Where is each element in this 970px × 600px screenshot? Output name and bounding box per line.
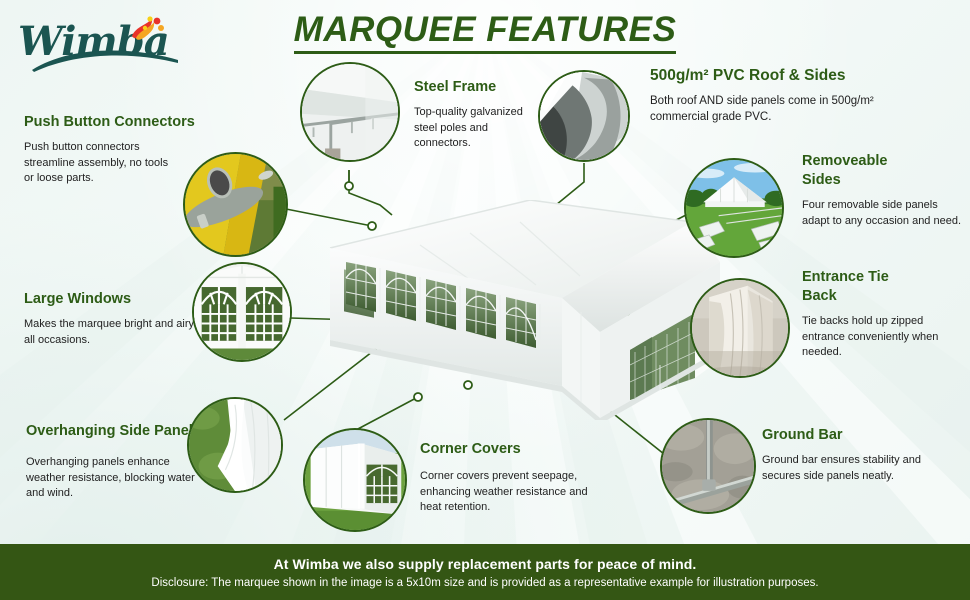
feature-body: Push button connectors streamline assemb… xyxy=(24,140,174,187)
feature-heading: Entrance Tie Back xyxy=(802,268,962,306)
thumb-overhanging-side-panel-photo[interactable] xyxy=(187,397,283,493)
thumb-corner-cover-photo[interactable] xyxy=(303,428,407,532)
page-title: MARQUEE FEATURES xyxy=(0,10,970,54)
feature-body: Both roof AND side panels come in 500g/m… xyxy=(650,93,910,125)
footer-banner: At Wimba we also supply replacement part… xyxy=(0,544,970,600)
thumb-ground-bar-photo[interactable] xyxy=(660,418,756,514)
feature-large-windows: Large Windows Makes the marquee bright a… xyxy=(24,290,214,348)
feature-heading: 500g/m² PVC Roof & Sides xyxy=(650,66,950,85)
push-button-connector-photo xyxy=(185,154,286,255)
feature-pvc-roof-and-sides: 500g/m² PVC Roof & Sides Both roof AND s… xyxy=(650,66,950,125)
thumb-large-windows-photo[interactable] xyxy=(192,262,292,362)
feature-body: Overhanging panels enhance weather resis… xyxy=(26,455,211,502)
feature-body: Four removable side panels adapt to any … xyxy=(802,198,962,229)
entrance-tie-back-photo xyxy=(692,280,788,376)
center-marquee-image xyxy=(300,200,720,420)
feature-heading: Overhanging Side Panels xyxy=(26,422,211,441)
feature-heading: Push Button Connectors xyxy=(24,113,239,132)
thumb-steel-frame-photo[interactable] xyxy=(300,62,400,162)
feature-overhanging-side-panels: Overhanging Side Panels Overhanging pane… xyxy=(26,422,211,502)
feature-ground-bar: Ground Bar Ground bar ensures stability … xyxy=(762,426,962,484)
removable-sides-photo xyxy=(686,160,782,256)
infographic-page: Wimba MARQUEE FEATURES xyxy=(0,0,970,600)
marquee-tent-illustration xyxy=(300,200,720,420)
thumb-removable-sides-photo[interactable] xyxy=(684,158,784,258)
ground-bar-photo xyxy=(662,420,754,512)
feature-heading: Large Windows xyxy=(24,290,214,309)
corner-cover-photo xyxy=(305,430,405,530)
footer-headline: At Wimba we also supply replacement part… xyxy=(274,556,697,572)
overhanging-side-panel-photo xyxy=(189,399,281,491)
steel-frame-photo xyxy=(302,64,398,160)
feature-body: Ground bar ensures stability and secures… xyxy=(762,453,962,484)
feature-body: Makes the marquee bright and airy for al… xyxy=(24,317,214,348)
feature-body: Corner covers prevent seepage, enhancing… xyxy=(420,469,610,516)
large-windows-photo xyxy=(194,264,290,360)
feature-heading: Corner Covers xyxy=(420,440,610,459)
thumb-entrance-tie-back-photo[interactable] xyxy=(690,278,790,378)
feature-heading: Ground Bar xyxy=(762,426,962,445)
feature-heading: Steel Frame xyxy=(414,78,544,97)
feature-body: Top-quality galvanized steel poles and c… xyxy=(414,105,544,152)
thumb-push-button-connector-photo[interactable] xyxy=(183,152,288,257)
thumb-pvc-fabric-photo[interactable] xyxy=(538,70,630,162)
feature-corner-covers: Corner Covers Corner covers prevent seep… xyxy=(420,440,610,516)
footer-disclosure: Disclosure: The marquee shown in the ima… xyxy=(151,577,818,589)
feature-body: Tie backs hold up zipped entrance conven… xyxy=(802,314,962,361)
feature-entrance-tie-back: Entrance Tie Back Tie backs hold up zipp… xyxy=(802,268,962,361)
feature-steel-frame: Steel Frame Top-quality galvanized steel… xyxy=(414,78,544,152)
feature-heading: Removeable Sides xyxy=(802,152,962,190)
pvc-fabric-photo xyxy=(540,72,628,160)
feature-removeable-sides: Removeable Sides Four removable side pan… xyxy=(802,152,962,229)
page-title-text: MARQUEE FEATURES xyxy=(294,10,677,54)
